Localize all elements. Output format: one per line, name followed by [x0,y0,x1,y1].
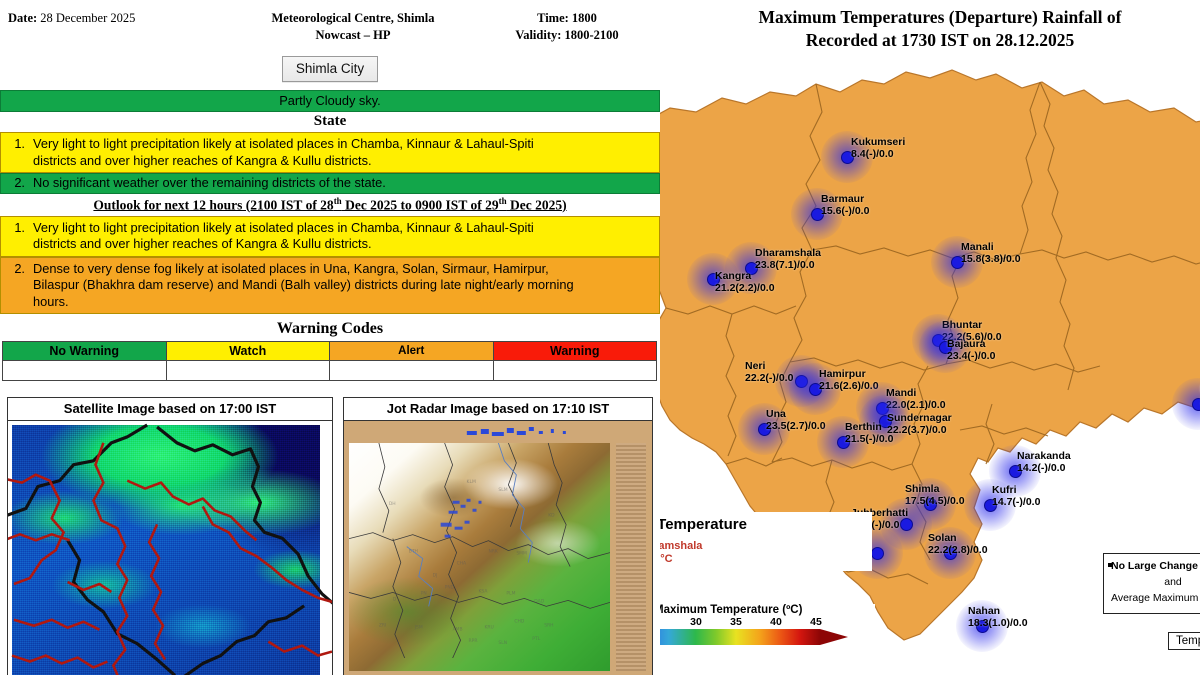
warning-codes-table: No Warning Watch Alert Warning [2,341,657,381]
satellite-image-box: Satellite Image based on 17:00 IST [7,397,333,675]
radar-image[interactable]: DHKLMSLM KDBTHDJ CHANRKSMM DPNPND KSAPLM… [344,421,652,675]
warning-code-alert: Alert [330,341,494,360]
outlook-item-2-text-cont2: hours. [33,294,655,310]
outlook-heading-mid: Dec 2025 to 0900 IST of 29 [342,197,499,212]
note-line-3: Average Maximum [1111,591,1200,607]
screenshot-root: Date: 28 December 2025 Meteorological Ce… [0,0,1200,675]
state-item-2-text: No significant weather over the remainin… [33,175,655,191]
outlook-item-1-text: Very light to light precipitation likely… [33,220,655,236]
svg-text:BTH: BTH [409,548,418,554]
header-time: Time: 1800 Validity: 1800-2100 [482,10,652,44]
svg-text:JSM: JSM [414,624,423,630]
svg-text:PND: PND [445,584,455,590]
svg-text:PLM: PLM [506,590,515,596]
state-item-2-number: 2. [5,175,25,191]
outlook-heading: Outlook for next 12 hours (2100 IST of 2… [0,194,660,217]
warning-value-cell-1 [3,360,167,380]
overlay-temperature-heading: t Temperature [660,516,866,533]
overlay-temperature-value: .8 °C [660,553,866,566]
time-label: Time: [537,11,569,25]
warning-code-watch: Watch [166,341,330,360]
radar-image-box: Jot Radar Image based on 17:10 IST [343,397,653,675]
overlay-temperature-panel: t Temperature aramshala .8 °C [660,512,872,571]
svg-text:AMB: AMB [453,626,463,632]
note-bullet-icon [1108,563,1112,567]
outlook-item-2-text: Dense to very dense fog likely at isolat… [33,261,655,277]
note-line-1: No Large Change [1111,559,1200,575]
shimla-city-button[interactable]: Shimla City [282,56,378,82]
svg-text:NRK: NRK [488,548,498,554]
document-header: Date: 28 December 2025 Meteorological Ce… [0,0,660,52]
svg-text:PTL: PTL [532,636,540,642]
imagery-row: Satellite Image based on 17:00 IST [0,397,660,675]
satellite-boundaries-overlay [8,421,332,675]
nowcast-document-panel: Date: 28 December 2025 Meteorological Ce… [0,0,660,675]
nowcast-subtitle: Nowcast – HP [224,27,482,44]
radar-map-overlay: DHKLMSLM KDBTHDJ CHANRKSMM DPNPND KSAPLM… [349,443,610,658]
colorbar-arrow-head [820,629,848,645]
overlay-temperature-detail: aramshala .8 °C [660,540,866,567]
radar-sidebar-legend [616,443,646,671]
svg-text:DJ: DJ [433,572,438,578]
outlook-item-2-text-cont: Bilaspur (Bhakhra dam reserve) and Mandi… [33,277,655,293]
warning-code-warning: Warning [493,341,657,360]
colorbar-tick-30: 30 [690,616,702,628]
time-value: 1800 [572,11,597,25]
outlook-item-1-text-cont: districts and over higher reaches of Kan… [33,236,655,252]
outlook-heading-pre: Outlook for next 12 hours (2100 IST of 2… [93,197,333,212]
temp-label-box[interactable]: Temp [1168,632,1200,650]
svg-text:CHD: CHD [514,618,524,624]
state-heading: State [0,112,660,132]
radar-caption: Jot Radar Image based on 17:10 IST [344,398,652,421]
colorbar-ticks: 30 35 40 45 [660,616,875,629]
header-date: Date: 28 December 2025 [8,10,224,27]
colorbar-title: Maximum Temperature (ºC) [660,604,875,616]
state-item-1: 1. Very light to light precipitation lik… [0,132,660,173]
state-item-2: 2. No significant weather over the remai… [0,173,660,193]
warning-value-cell-3 [330,360,494,380]
svg-text:KSA: KSA [478,588,488,594]
svg-text:KRU: KRU [484,624,493,630]
colorbar-tick-45: 45 [810,616,822,628]
radar-top-echo-band [452,425,594,441]
outlook-item-1: 1. Very light to light precipitation lik… [0,216,660,257]
colorbar-bar [660,629,875,645]
city-button-row: Shimla City [0,56,660,82]
svg-text:SLM: SLM [498,487,507,493]
centre-name: Meteorological Centre, Shimla [224,10,482,27]
temperature-map-panel: Maximum Temperatures (Departure) Rainfal… [660,0,1200,675]
outlook-item-2-number: 2. [5,261,25,277]
warning-codes-title: Warning Codes [0,314,660,341]
warning-value-cell-4 [493,360,657,380]
svg-text:KLM: KLM [467,479,476,485]
state-item-1-number: 1. [5,136,25,152]
no-large-change-note-box: No Large Change and Average Maximum [1103,553,1200,614]
overlay-temperature-station: aramshala [660,540,866,553]
colorbar-tick-40: 40 [770,616,782,628]
validity-value: 1800-2100 [565,28,619,42]
svg-text:SMM: SMM [516,550,527,556]
svg-text:RPR: RPR [469,638,478,644]
colorbar-tick-35: 35 [730,616,742,628]
svg-text:ZRI: ZRI [379,622,386,628]
date-label: Date: [8,11,37,25]
svg-text:DH: DH [389,501,396,507]
sky-condition-strip: Partly Cloudy sky. [0,90,660,112]
warning-codes-value-row [3,360,657,380]
date-value: 28 December 2025 [40,11,135,25]
warning-code-no-warning: No Warning [3,341,167,360]
state-item-1-text-cont: districts and over higher reaches of Kan… [33,153,655,169]
outlook-sup-2: th [499,196,507,206]
outlook-item-1-number: 1. [5,220,25,236]
satellite-image[interactable] [8,421,332,675]
svg-text:SLN: SLN [498,640,507,646]
colorbar-legend: Maximum Temperature (ºC) 30 35 40 45 [660,604,875,645]
state-item-1-text: Very light to light precipitation likely… [33,136,655,152]
colorbar-gradient [660,629,820,645]
svg-text:D: D [393,596,397,602]
header-centre: Meteorological Centre, Shimla Nowcast – … [224,10,482,44]
svg-text:KD: KD [548,513,555,519]
radar-terrain-panel: DHKLMSLM KDBTHDJ CHANRKSMM DPNPND KSAPLM… [349,443,610,671]
svg-text:PN: PN [421,590,427,596]
outlook-heading-post: Dec 2025) [507,197,567,212]
warning-codes-header-row: No Warning Watch Alert Warning [3,341,657,360]
note-line-2: and [1111,575,1200,591]
satellite-caption: Satellite Image based on 17:00 IST [8,398,332,421]
outlook-sup-1: th [334,196,342,206]
svg-text:SRH: SRH [544,622,553,628]
warning-value-cell-2 [166,360,330,380]
svg-text:DAD: DAD [534,598,544,604]
validity-label: Validity: [515,28,561,42]
outlook-item-2: 2. Dense to very dense fog likely at iso… [0,257,660,314]
svg-text:CHA: CHA [457,560,467,566]
